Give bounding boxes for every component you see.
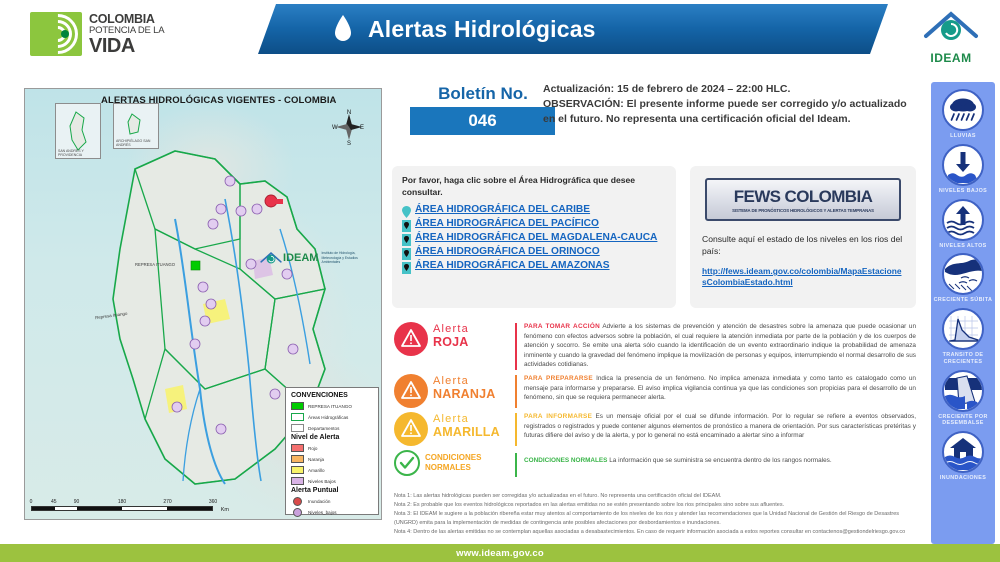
legend-item: Departamentos (291, 423, 373, 433)
legend-level-item: Amarillo (291, 465, 373, 475)
sidebar-item-creciente-subita[interactable]: CRECIENTE SÚBITA (931, 253, 995, 304)
gov-logo-line1: COLOMBIA (89, 13, 164, 26)
alert-name-amarilla: Alerta AMARILLA (433, 412, 515, 439)
footer-url[interactable]: www.ideam.gov.co (456, 548, 544, 559)
legend-label: Niveles Bajos (308, 479, 336, 484)
sidebar-label: LLUVIAS (931, 133, 995, 140)
legend-label: Niveles_bajos (308, 510, 337, 515)
scale-tick: 45 (51, 499, 57, 505)
link-label[interactable]: ÁREA HIDROGRÁFICA DEL PACÍFICO (415, 218, 599, 231)
ideam-logo: IDEAM (916, 6, 986, 64)
gov-logo-line3: VIDA (89, 36, 164, 56)
legend-swatch (291, 455, 304, 463)
legend-swatch (291, 466, 304, 474)
map-inset-sanandres: ARCHIPIÉLAGO SAN ANDRÉS (113, 103, 159, 149)
note-1: Nota 1: Las alertas hidrológicas pueden … (394, 492, 918, 501)
legend-label: REPRESA ITUANGO (308, 404, 352, 409)
check-circle-icon (394, 450, 420, 476)
link-item-pacifico[interactable]: ÁREA HIDROGRÁFICA DEL PACÍFICO (402, 218, 666, 231)
map-pin-icon (402, 247, 411, 259)
map-ideam-name: IDEAM (283, 252, 318, 264)
fews-logo: FEWS COLOMBIA SISTEMA DE PRONÓSTICOS HID… (705, 178, 901, 221)
map-pin-icon (402, 261, 411, 273)
map-ideam-logo: IDEAM Instituto de Hidrología, Meteorolo… (259, 235, 371, 281)
legend-swatch (291, 402, 304, 410)
warning-triangle-icon (394, 322, 428, 356)
sidebar-item-niveles-bajos[interactable]: NIVELES BAJOS (931, 144, 995, 195)
scale-tick: 90 (74, 499, 80, 505)
title-banner: Alertas Hidrológicas (258, 4, 888, 54)
flooded-house-icon (942, 431, 984, 473)
alert-description-amarilla: PARA INFORMARSE Es un mensaje oficial po… (524, 412, 916, 441)
map-inset-providencia: SAN ANDRÉS Y PROVIDENCIA (55, 103, 101, 159)
sidebar-label: INUNDACIONES (931, 475, 995, 482)
arrow-down-water-icon (942, 144, 984, 186)
normal-name-line1: CONDICIONES (425, 453, 515, 463)
low-level-pin-icon (293, 508, 302, 517)
link-item-amazonas[interactable]: ÁREA HIDROGRÁFICA DEL AMAZONAS (402, 260, 666, 273)
sidebar-item-niveles-altos[interactable]: NIVELES ALTOS (931, 199, 995, 250)
rain-cloud-icon (942, 89, 984, 131)
fews-logo-title: FEWS COLOMBIA (734, 187, 873, 207)
page-title: Alertas Hidrológicas (368, 16, 596, 43)
dam-release-icon (942, 370, 984, 412)
ideam-eye-roof-icon (920, 6, 982, 48)
legend-level-item: Rojo (291, 443, 373, 453)
page-footer: www.ideam.gov.co (0, 544, 1000, 562)
footnotes: Nota 1: Las alertas hidrológicas pueden … (394, 492, 918, 537)
link-label[interactable]: ÁREA HIDROGRÁFICA DEL ORINOCO (415, 246, 600, 259)
map-legend: CONVENCIONES REPRESA ITUANGO Áreas Hidro… (285, 387, 379, 515)
warning-triangle-icon (394, 374, 428, 408)
sidebar-label: NIVELES ALTOS (931, 243, 995, 250)
colombia-wave-icon (30, 12, 82, 56)
note-3: Nota 3: El IDEAM le sugiere a la poblaci… (394, 510, 918, 528)
legend-label: Rojo (308, 446, 317, 451)
scale-tick: 270 (163, 499, 171, 505)
sidebar-item-creciente-desembalse[interactable]: CRECIENTE POR DESEMBALSE (931, 370, 995, 428)
scale-tick: 180 (118, 499, 126, 505)
sidebar-item-inundaciones[interactable]: INUNDACIONES (931, 431, 995, 482)
bulletin-update-block: Actualización: 15 de febrero de 2024 – 2… (543, 82, 913, 128)
alert-row-amarilla: Alerta AMARILLA PARA INFORMARSE Es un me… (394, 412, 916, 446)
alert-row-roja: Alerta ROJA PARA TOMAR ACCIÓN Advierte a… (394, 322, 916, 370)
legend-points-title: Alerta Puntual (291, 487, 373, 494)
normal-heading: CONDICIONES NORMALES (524, 457, 607, 464)
phenomena-sidebar: LLUVIAS NIVELES BAJOS (931, 82, 995, 544)
alert-divider (515, 413, 517, 446)
scale-tick: 0 (30, 499, 33, 505)
page-header: COLOMBIA POTENCIA DE LA VIDA Alertas Hid… (0, 0, 1000, 70)
fews-panel: FEWS COLOMBIA SISTEMA DE PRONÓSTICOS HID… (690, 166, 916, 308)
colombia-gov-logo: COLOMBIA POTENCIA DE LA VIDA (30, 8, 180, 60)
legend-swatch (291, 424, 304, 432)
legend-point-item: Inundación (291, 496, 373, 506)
links-intro: Por favor, haga clic sobre el Área Hidro… (402, 175, 666, 198)
fews-logo-subtitle: SISTEMA DE PRONÓSTICOS HIDROLÓGICOS Y AL… (732, 208, 874, 213)
ideam-logo-label: IDEAM (916, 51, 986, 65)
alert-divider (515, 453, 517, 477)
link-item-orinoco[interactable]: ÁREA HIDROGRÁFICA DEL ORINOCO (402, 246, 666, 259)
hydrograph-icon (942, 308, 984, 350)
scale-unit: Km (221, 507, 229, 513)
legend-level-item: Niveles Bajos (291, 476, 373, 486)
alert-divider (515, 323, 517, 370)
legend-label: Naranja (308, 457, 324, 462)
alert-name-line2: NARANJA (433, 388, 515, 401)
legend-point-item: Niveles_bajos (291, 507, 373, 517)
note-4: Nota 4: Dentro de las alertas emitidas n… (394, 528, 918, 537)
alert-name-line2: AMARILLA (433, 426, 515, 439)
fews-text: Consulte aquí el estado de los niveles e… (702, 233, 904, 257)
link-item-magdalena-cauca[interactable]: ÁREA HIDROGRÁFICA DEL MAGDALENA-CAUCA (402, 232, 666, 245)
legend-label: Departamentos (308, 426, 339, 431)
bulletin-update-line: Actualización: 15 de febrero de 2024 – 2… (543, 82, 913, 97)
flood-pin-icon (293, 497, 302, 506)
compass-rose-icon: N S W E (331, 109, 367, 145)
legend-label: Inundación (308, 499, 330, 504)
svg-text:N: N (347, 110, 351, 116)
svg-text:E: E (360, 125, 364, 131)
bulletin-page: COLOMBIA POTENCIA DE LA VIDA Alertas Hid… (0, 0, 1000, 562)
legend-swatch (291, 413, 304, 421)
alert-divider (515, 375, 517, 408)
normal-name-line2: NORMALES (425, 463, 515, 473)
map-pin-icon (402, 219, 411, 231)
alert-name-roja: Alerta ROJA (433, 322, 515, 349)
fews-url-link[interactable]: http://fews.ideam.gov.co/colombia/MapaEs… (702, 266, 904, 289)
alert-heading: PARA PREPARARSE (524, 375, 593, 382)
normal-condition-description: CONDICIONES NORMALES La información que … (524, 450, 916, 466)
arrow-up-water-icon (942, 199, 984, 241)
warning-triangle-icon (394, 412, 428, 446)
sidebar-label: TRANSITO DE CRECIENTES (931, 352, 995, 366)
bulletin-title: Boletín No. (418, 84, 548, 104)
alert-name-line1: Alerta (433, 414, 515, 426)
map-dam-label: REPRESA ITUANGO (135, 262, 175, 267)
alert-heading: PARA INFORMARSE (524, 413, 592, 420)
alert-row-normal: CONDICIONES NORMALES CONDICIONES NORMALE… (394, 450, 916, 477)
bulletin-observation: OBSERVACIÓN: El presente informe puede s… (543, 97, 913, 127)
link-label[interactable]: ÁREA HIDROGRÁFICA DEL AMAZONAS (415, 260, 610, 273)
alert-name-line1: Alerta (433, 324, 515, 336)
bulletin-number: 046 (410, 107, 555, 135)
map-pin-icon (402, 205, 411, 217)
legend-levels-title: Nivel de Alerta (291, 434, 373, 441)
alert-legend-section: Alerta ROJA PARA TOMAR ACCIÓN Advierte a… (394, 322, 916, 477)
alerts-map[interactable]: ALERTAS HIDROLÓGICAS VIGENTES - COLOMBIA… (24, 88, 382, 520)
alert-heading: PARA TOMAR ACCIÓN (524, 323, 600, 330)
map-inset-caption-2: ARCHIPIÉLAGO SAN ANDRÉS (116, 139, 158, 147)
link-label[interactable]: ÁREA HIDROGRÁFICA DEL MAGDALENA-CAUCA (415, 232, 657, 245)
legend-title: CONVENCIONES (291, 392, 373, 399)
sidebar-item-transito-crecientes[interactable]: TRANSITO DE CRECIENTES (931, 308, 995, 366)
note-2: Nota 2: Es probable que los eventos hidr… (394, 501, 918, 510)
alert-name-naranja: Alerta NARANJA (433, 374, 515, 401)
sidebar-label: CRECIENTE POR DESEMBALSE (931, 414, 995, 428)
sidebar-item-lluvias[interactable]: LLUVIAS (931, 89, 995, 140)
alert-name-line1: Alerta (433, 376, 515, 388)
water-drop-icon (332, 14, 354, 44)
normal-condition-name: CONDICIONES NORMALES (425, 450, 515, 473)
map-inset-caption-1: SAN ANDRÉS Y PROVIDENCIA (58, 149, 100, 157)
alert-description-roja: PARA TOMAR ACCIÓN Advierte a los sistema… (524, 322, 916, 370)
svg-text:S: S (347, 141, 351, 145)
legend-label: Amarillo (308, 468, 325, 473)
link-label[interactable]: ÁREA HIDROGRÁFICA DEL CARIBE (415, 204, 590, 217)
sidebar-label: NIVELES BAJOS (931, 188, 995, 195)
legend-swatch (291, 477, 304, 485)
scale-tick: 360 (209, 499, 217, 505)
hydrographic-links-panel: Por favor, haga clic sobre el Área Hidro… (392, 166, 676, 308)
normal-body: La información que se suministra se encu… (609, 457, 831, 464)
alert-row-naranja: Alerta NARANJA PARA PREPARARSE Indica la… (394, 374, 916, 408)
legend-label: Áreas Hidrográficas (308, 415, 348, 420)
svg-text:W: W (332, 125, 338, 131)
legend-item: REPRESA ITUANGO (291, 401, 373, 411)
map-scale-bar: 0 45 90 180 270 360 Km (31, 499, 213, 511)
legend-level-item: Naranja (291, 454, 373, 464)
map-ideam-sub: Instituto de Hidrología, Meteorología y … (321, 251, 371, 265)
alert-name-line2: ROJA (433, 336, 515, 349)
flash-flood-icon (942, 253, 984, 295)
map-pin-icon (402, 233, 411, 245)
legend-swatch (291, 444, 304, 452)
link-item-caribe[interactable]: ÁREA HIDROGRÁFICA DEL CARIBE (402, 204, 666, 217)
legend-item: Áreas Hidrográficas (291, 412, 373, 422)
alert-description-naranja: PARA PREPARARSE Indica la presencia de u… (524, 374, 916, 403)
sidebar-label: CRECIENTE SÚBITA (931, 297, 995, 304)
